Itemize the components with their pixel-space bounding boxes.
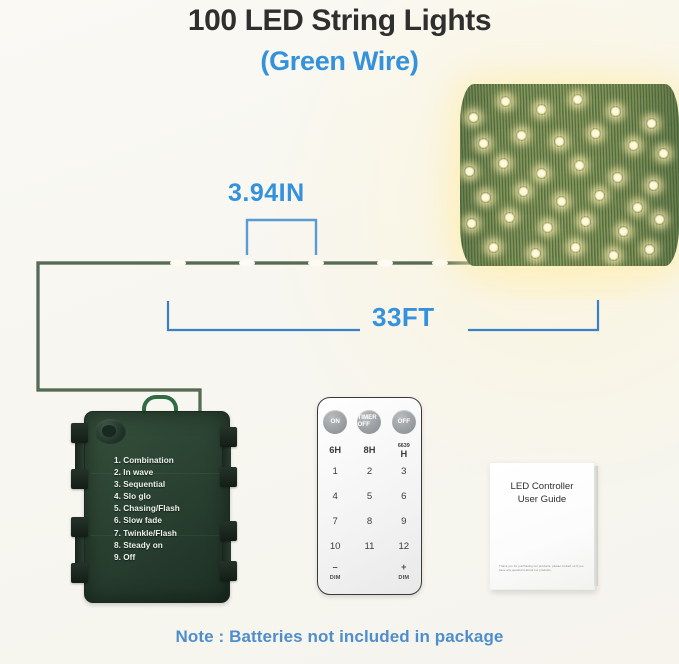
footer-note: Note : Batteries not included in package (0, 627, 679, 647)
battery-box-clip (71, 469, 88, 489)
remote-key-5[interactable]: 5 (356, 491, 382, 502)
light-coil (460, 84, 679, 266)
remote-key-12[interactable]: 12 (391, 541, 417, 552)
remote-key-6[interactable]: 6 (391, 491, 417, 502)
coil-bulb (594, 190, 605, 201)
coil-bulb (632, 202, 643, 213)
mode-item: 5. Chasing/Flash (114, 503, 180, 515)
remote-dim-up-button[interactable]: + DIM (391, 564, 417, 582)
coil-bulb (468, 112, 479, 123)
coil-bulb (644, 244, 655, 255)
remote-off-button[interactable]: OFF (392, 410, 416, 434)
mode-list: 1. Combination 2. In wave 3. Sequential … (114, 455, 180, 564)
mode-item: 4. Slo glo (114, 491, 180, 503)
battery-box-clip (220, 427, 237, 447)
coil-bulb (590, 128, 601, 139)
remote-key-1[interactable]: 1 (322, 466, 348, 477)
coil-bulb (536, 168, 547, 179)
guide-title-line1: LED Controller (490, 480, 594, 493)
mode-button[interactable] (95, 419, 126, 444)
coil-bulb (516, 130, 527, 141)
coil-bulb (500, 96, 511, 107)
coil-bulb (646, 118, 657, 129)
coil-bulb (480, 192, 491, 203)
coil-bulb (570, 242, 581, 253)
coil-bulb (658, 148, 669, 159)
coil-bulb (542, 222, 553, 233)
mode-item: 2. In wave (114, 467, 180, 479)
coil-bulb (618, 226, 629, 237)
battery-box-clip (220, 467, 237, 487)
guide-title: LED Controller User Guide (490, 480, 594, 506)
coil-bulb (478, 138, 489, 149)
remote-control: ON TIMER OFF OFF 6H 8H 6639 H 1 2 3 4 5 … (317, 397, 422, 595)
battery-controller-box: 1. Combination 2. In wave 3. Sequential … (84, 411, 230, 603)
coil-bulb (556, 196, 567, 207)
remote-key-10[interactable]: 10 (322, 541, 348, 552)
coil-bulb (648, 180, 659, 191)
product-infographic: 100 LED String Lights (Green Wire) 3.94I… (0, 0, 679, 664)
green-wire (38, 263, 479, 412)
mode-item: 7. Twinkle/Flash (114, 528, 180, 540)
user-guide-booklet: LED Controller User Guide Thank you for … (489, 462, 595, 590)
remote-key-2[interactable]: 2 (356, 466, 382, 477)
remote-timer-8h[interactable]: 8H (356, 446, 382, 454)
coil-bulb (536, 104, 547, 115)
bulb-spacing-label: 3.94IN (228, 179, 305, 208)
coil-bulb (518, 186, 529, 197)
battery-box-clip (220, 521, 237, 541)
battery-box-clip (71, 563, 88, 583)
remote-key-3[interactable]: 3 (391, 466, 417, 477)
coil-bulb (554, 136, 565, 147)
coil-bulb (572, 94, 583, 105)
mode-item: 8. Steady on (114, 540, 180, 552)
coil-bulb (498, 158, 509, 169)
mode-item: 9. Off (114, 552, 180, 564)
guide-spine (594, 466, 598, 586)
coil-bulb (504, 212, 515, 223)
guide-title-line2: User Guide (490, 493, 594, 506)
coil-bulb (466, 218, 477, 229)
mode-button-inner (102, 425, 116, 437)
coil-bulb (488, 242, 499, 253)
remote-timer-off-button[interactable]: TIMER OFF (357, 410, 381, 434)
mode-item: 1. Combination (114, 455, 180, 467)
remote-on-button[interactable]: ON (323, 410, 347, 434)
remote-key-11[interactable]: 11 (356, 541, 382, 552)
coil-bulb (580, 216, 591, 227)
guide-fine-print: Thank you for purchasing our products, p… (499, 564, 585, 573)
remote-dim-down-button[interactable]: – DIM (322, 564, 348, 582)
coil-bulb (628, 140, 639, 151)
battery-box-clip (71, 423, 88, 443)
remote-timer-6h[interactable]: 6H (322, 446, 348, 454)
remote-key-4[interactable]: 4 (322, 491, 348, 502)
coil-bulb (610, 106, 621, 117)
remote-timer-alt-unit: H (400, 449, 407, 459)
dim-plus-sign: + (391, 564, 417, 571)
coil-bulb (574, 160, 585, 171)
coil-bulb (464, 166, 475, 177)
coil-bulb (612, 172, 623, 183)
coil-bulb (530, 248, 541, 259)
mode-item: 6. Slow fade (114, 515, 180, 527)
battery-box-clip (220, 561, 237, 581)
mode-item: 3. Sequential (114, 479, 180, 491)
dim-minus-sign: – (322, 564, 348, 571)
dim-minus-label: DIM (330, 575, 341, 581)
coil-bulb (608, 250, 619, 261)
bulb-spacing-bracket (247, 220, 316, 255)
battery-box-clip (71, 517, 88, 537)
remote-key-8[interactable]: 8 (356, 516, 382, 527)
dim-plus-label: DIM (398, 575, 409, 581)
coil-wire-body (460, 84, 679, 266)
coil-bulb (654, 214, 665, 225)
total-length-label: 33FT (372, 302, 435, 333)
remote-key-7[interactable]: 7 (322, 516, 348, 527)
remote-key-9[interactable]: 9 (391, 516, 417, 527)
remote-timer-alt[interactable]: 6639 H (391, 442, 417, 458)
